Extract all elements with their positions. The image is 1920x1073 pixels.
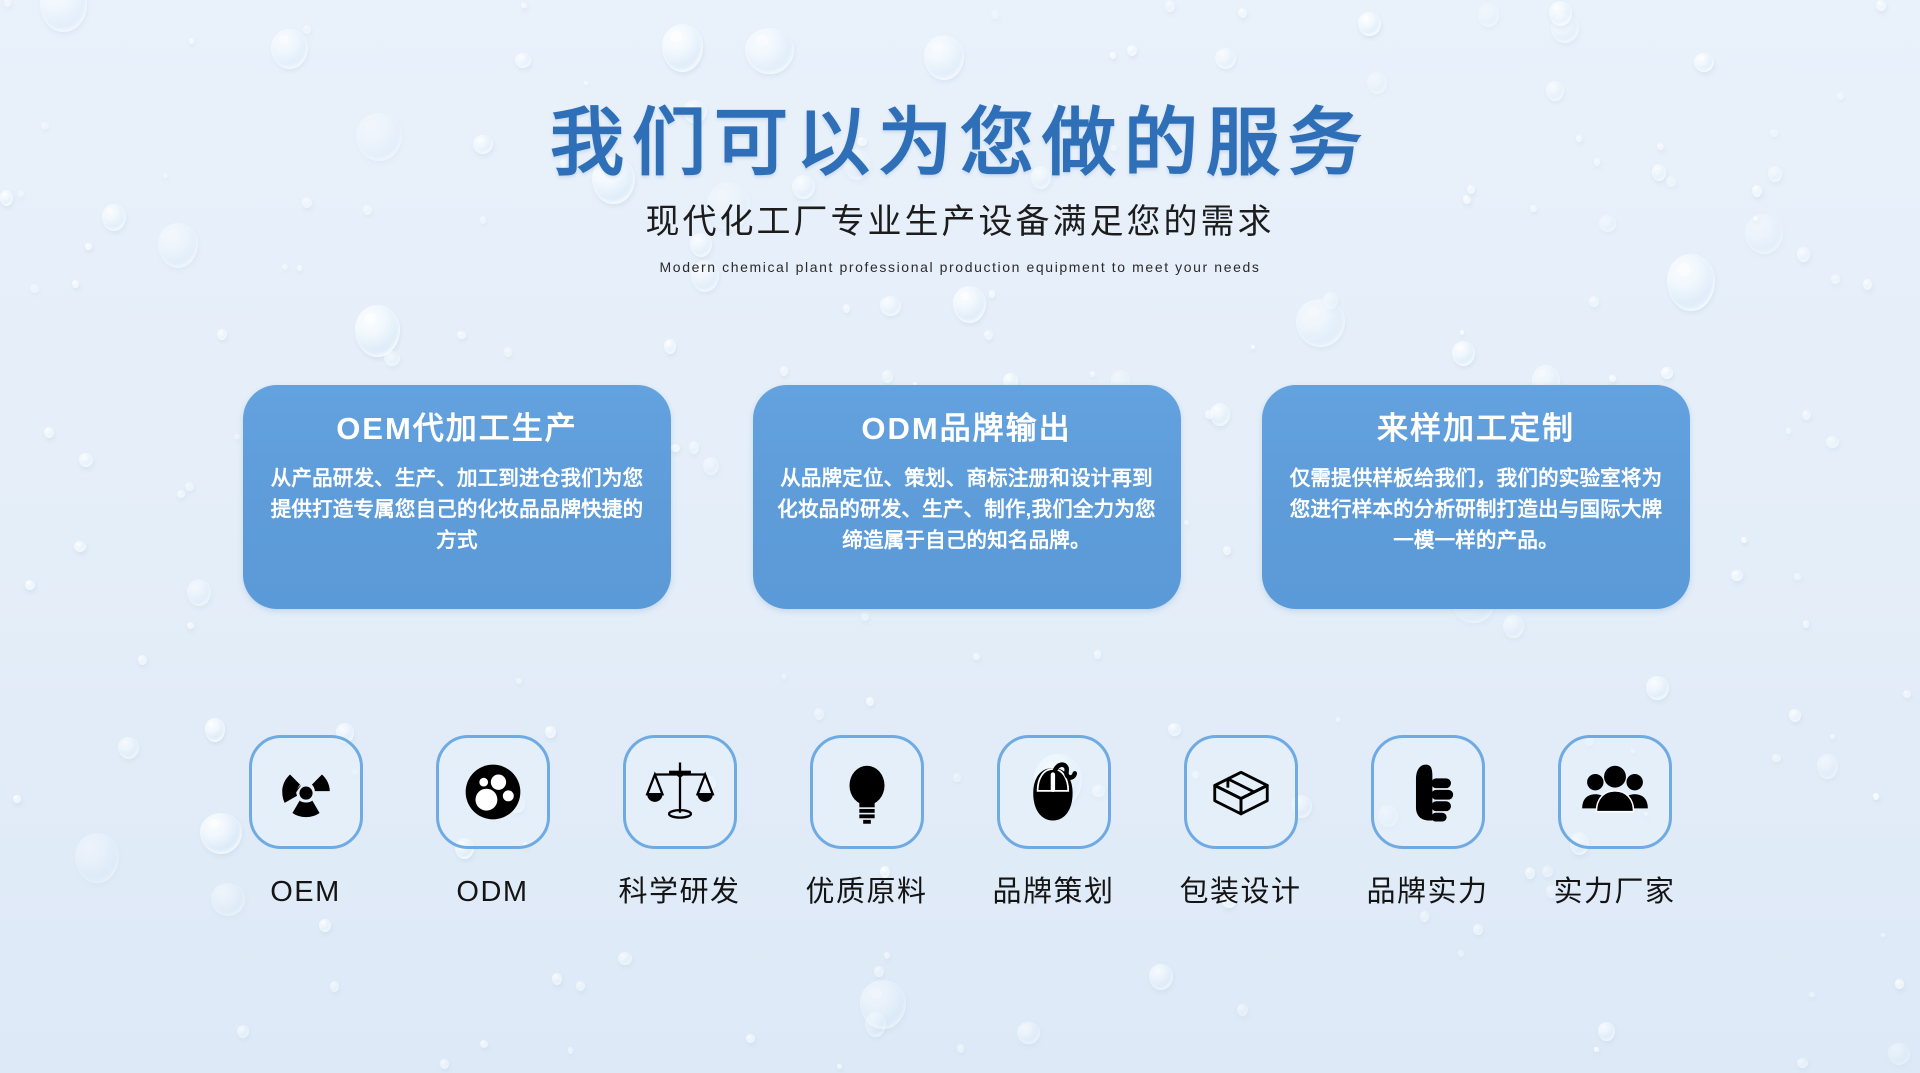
capability-label: ODM	[456, 877, 528, 909]
feature-card-title: OEM代加工生产	[265, 411, 649, 447]
service-page: 我们可以为您做的服务 现代化工厂专业生产设备满足您的需求 Modern chem…	[0, 0, 1920, 1073]
feature-card-body: 从品牌定位、策划、商标注册和设计再到化妆品的研发、生产、制作,我们全力为您缔造属…	[775, 463, 1159, 556]
icon-tile[interactable]	[623, 735, 737, 849]
page-subtitle-english: Modern chemical plant professional produ…	[0, 243, 1920, 276]
molecule-bubbles-icon	[458, 757, 528, 827]
capability-item-materials[interactable]: 优质原料	[793, 735, 941, 909]
capability-label: 包装设计	[1179, 877, 1301, 909]
feature-card-title: 来样加工定制	[1284, 411, 1668, 447]
icon-tile[interactable]	[997, 735, 1111, 849]
capability-label: 科学研发	[618, 877, 740, 909]
icon-tile[interactable]	[436, 735, 550, 849]
capability-item-packaging[interactable]: 包装设计	[1167, 735, 1315, 909]
balance-scale-icon	[645, 757, 715, 827]
capability-item-rnd[interactable]: 科学研发	[606, 735, 754, 909]
open-box-icon	[1206, 757, 1276, 827]
icon-tile[interactable]	[1371, 735, 1485, 849]
capability-label: 实力厂家	[1553, 877, 1675, 909]
feature-card-sample-custom[interactable]: 来样加工定制 仅需提供样板给我们，我们的实验室将为您进行样本的分析研制打造出与国…	[1262, 385, 1690, 609]
radiation-icon	[271, 757, 341, 827]
page-subtitle: 现代化工厂专业生产设备满足您的需求	[0, 182, 1920, 243]
feature-card-list: OEM代加工生产 从产品研发、生产、加工到进仓我们为您提供打造专属您自己的化妆品…	[243, 385, 1690, 609]
icon-tile[interactable]	[1558, 735, 1672, 849]
icon-tile[interactable]	[1184, 735, 1298, 849]
feature-card-odm[interactable]: ODM品牌输出 从品牌定位、策划、商标注册和设计再到化妆品的研发、生产、制作,我…	[753, 385, 1181, 609]
capability-item-brand-strength[interactable]: 品牌实力	[1354, 735, 1502, 909]
capability-item-branding[interactable]: 品牌策划	[980, 735, 1128, 909]
capability-icon-row: OEM ODM	[0, 735, 1920, 909]
capability-label: 优质原料	[805, 877, 927, 909]
icon-tile[interactable]	[810, 735, 924, 849]
lightbulb-icon	[832, 757, 902, 827]
capability-item-factory[interactable]: 实力厂家	[1541, 735, 1689, 909]
page-header: 我们可以为您做的服务 现代化工厂专业生产设备满足您的需求 Modern chem…	[0, 0, 1920, 276]
people-group-icon	[1580, 757, 1650, 827]
capability-label: OEM	[270, 877, 341, 909]
feature-card-title: ODM品牌输出	[775, 411, 1159, 447]
icon-tile[interactable]	[249, 735, 363, 849]
feature-card-body: 仅需提供样板给我们，我们的实验室将为您进行样本的分析研制打造出与国际大牌一模一样…	[1284, 463, 1668, 556]
page-title: 我们可以为您做的服务	[0, 0, 1920, 182]
feature-card-body: 从产品研发、生产、加工到进仓我们为您提供打造专属您自己的化妆品品牌快捷的方式	[265, 463, 649, 556]
capability-item-odm[interactable]: ODM	[419, 735, 567, 909]
feature-card-oem[interactable]: OEM代加工生产 从产品研发、生产、加工到进仓我们为您提供打造专属您自己的化妆品…	[243, 385, 671, 609]
computer-mouse-icon	[1019, 757, 1089, 827]
capability-label: 品牌实力	[1366, 877, 1488, 909]
thumbs-up-icon	[1393, 757, 1463, 827]
capability-label: 品牌策划	[992, 877, 1114, 909]
capability-item-oem[interactable]: OEM	[232, 735, 380, 909]
